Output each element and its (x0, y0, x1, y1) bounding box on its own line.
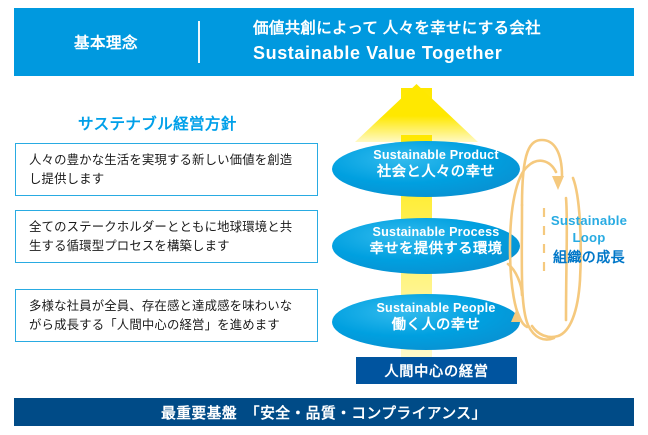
footer-label: 最重要基盤 「安全・品質・コンプライアンス」 (161, 402, 487, 423)
loop-caption-en-line2: Loop (530, 230, 648, 247)
ellipse-sustainable-process (332, 218, 520, 274)
philosophy-header-band: 基本理念 価値共創によって 人々を幸せにする会社 Sustainable Val… (14, 8, 634, 76)
sustainable-loop-caption: Sustainable Loop 組織の成長 (530, 213, 648, 267)
ellipse-sustainable-people (332, 294, 520, 350)
policy-box-1: 人々の豊かな生活を実現する新しい価値を創造し提供します (15, 143, 318, 196)
foundation-bar-label: 人間中心の経営 (384, 361, 488, 381)
loop-caption-en-line1: Sustainable (530, 213, 648, 230)
loop-arrowhead-down (552, 176, 564, 190)
philosophy-statement-en: Sustainable Value Together (253, 41, 634, 67)
footer-band: 最重要基盤 「安全・品質・コンプライアンス」 (14, 398, 634, 426)
header-divider (198, 21, 200, 63)
foundation-bar: 人間中心の経営 (356, 357, 517, 384)
policy-text-1: 人々の豊かな生活を実現する新しい価値を創造し提供します (16, 151, 317, 189)
policy-heading: サステナブル経営方針 (78, 112, 237, 134)
philosophy-statement-jp: 価値共創によって 人々を幸せにする会社 (253, 18, 634, 40)
policy-text-2: 全てのステークホルダーとともに地球環境と共生する循環型プロセスを構築します (16, 218, 317, 256)
philosophy-label: 基本理念 (14, 31, 198, 53)
loop-caption-jp: 組織の成長 (530, 249, 648, 267)
policy-text-3: 多様な社員が全員、存在感と達成感を味わいながら成長する「人間中心の経営」を進めま… (16, 297, 317, 335)
sustainable-loop-diagram: Sustainable Product 社会と人々の幸せ Sustainable… (330, 80, 648, 385)
policy-box-2: 全てのステークホルダーとともに地球環境と共生する循環型プロセスを構築します (15, 210, 318, 263)
policy-box-3: 多様な社員が全員、存在感と達成感を味わいながら成長する「人間中心の経営」を進めま… (15, 289, 318, 342)
philosophy-statement: 価値共創によって 人々を幸せにする会社 Sustainable Value To… (200, 18, 634, 67)
ellipse-sustainable-product (332, 141, 520, 197)
